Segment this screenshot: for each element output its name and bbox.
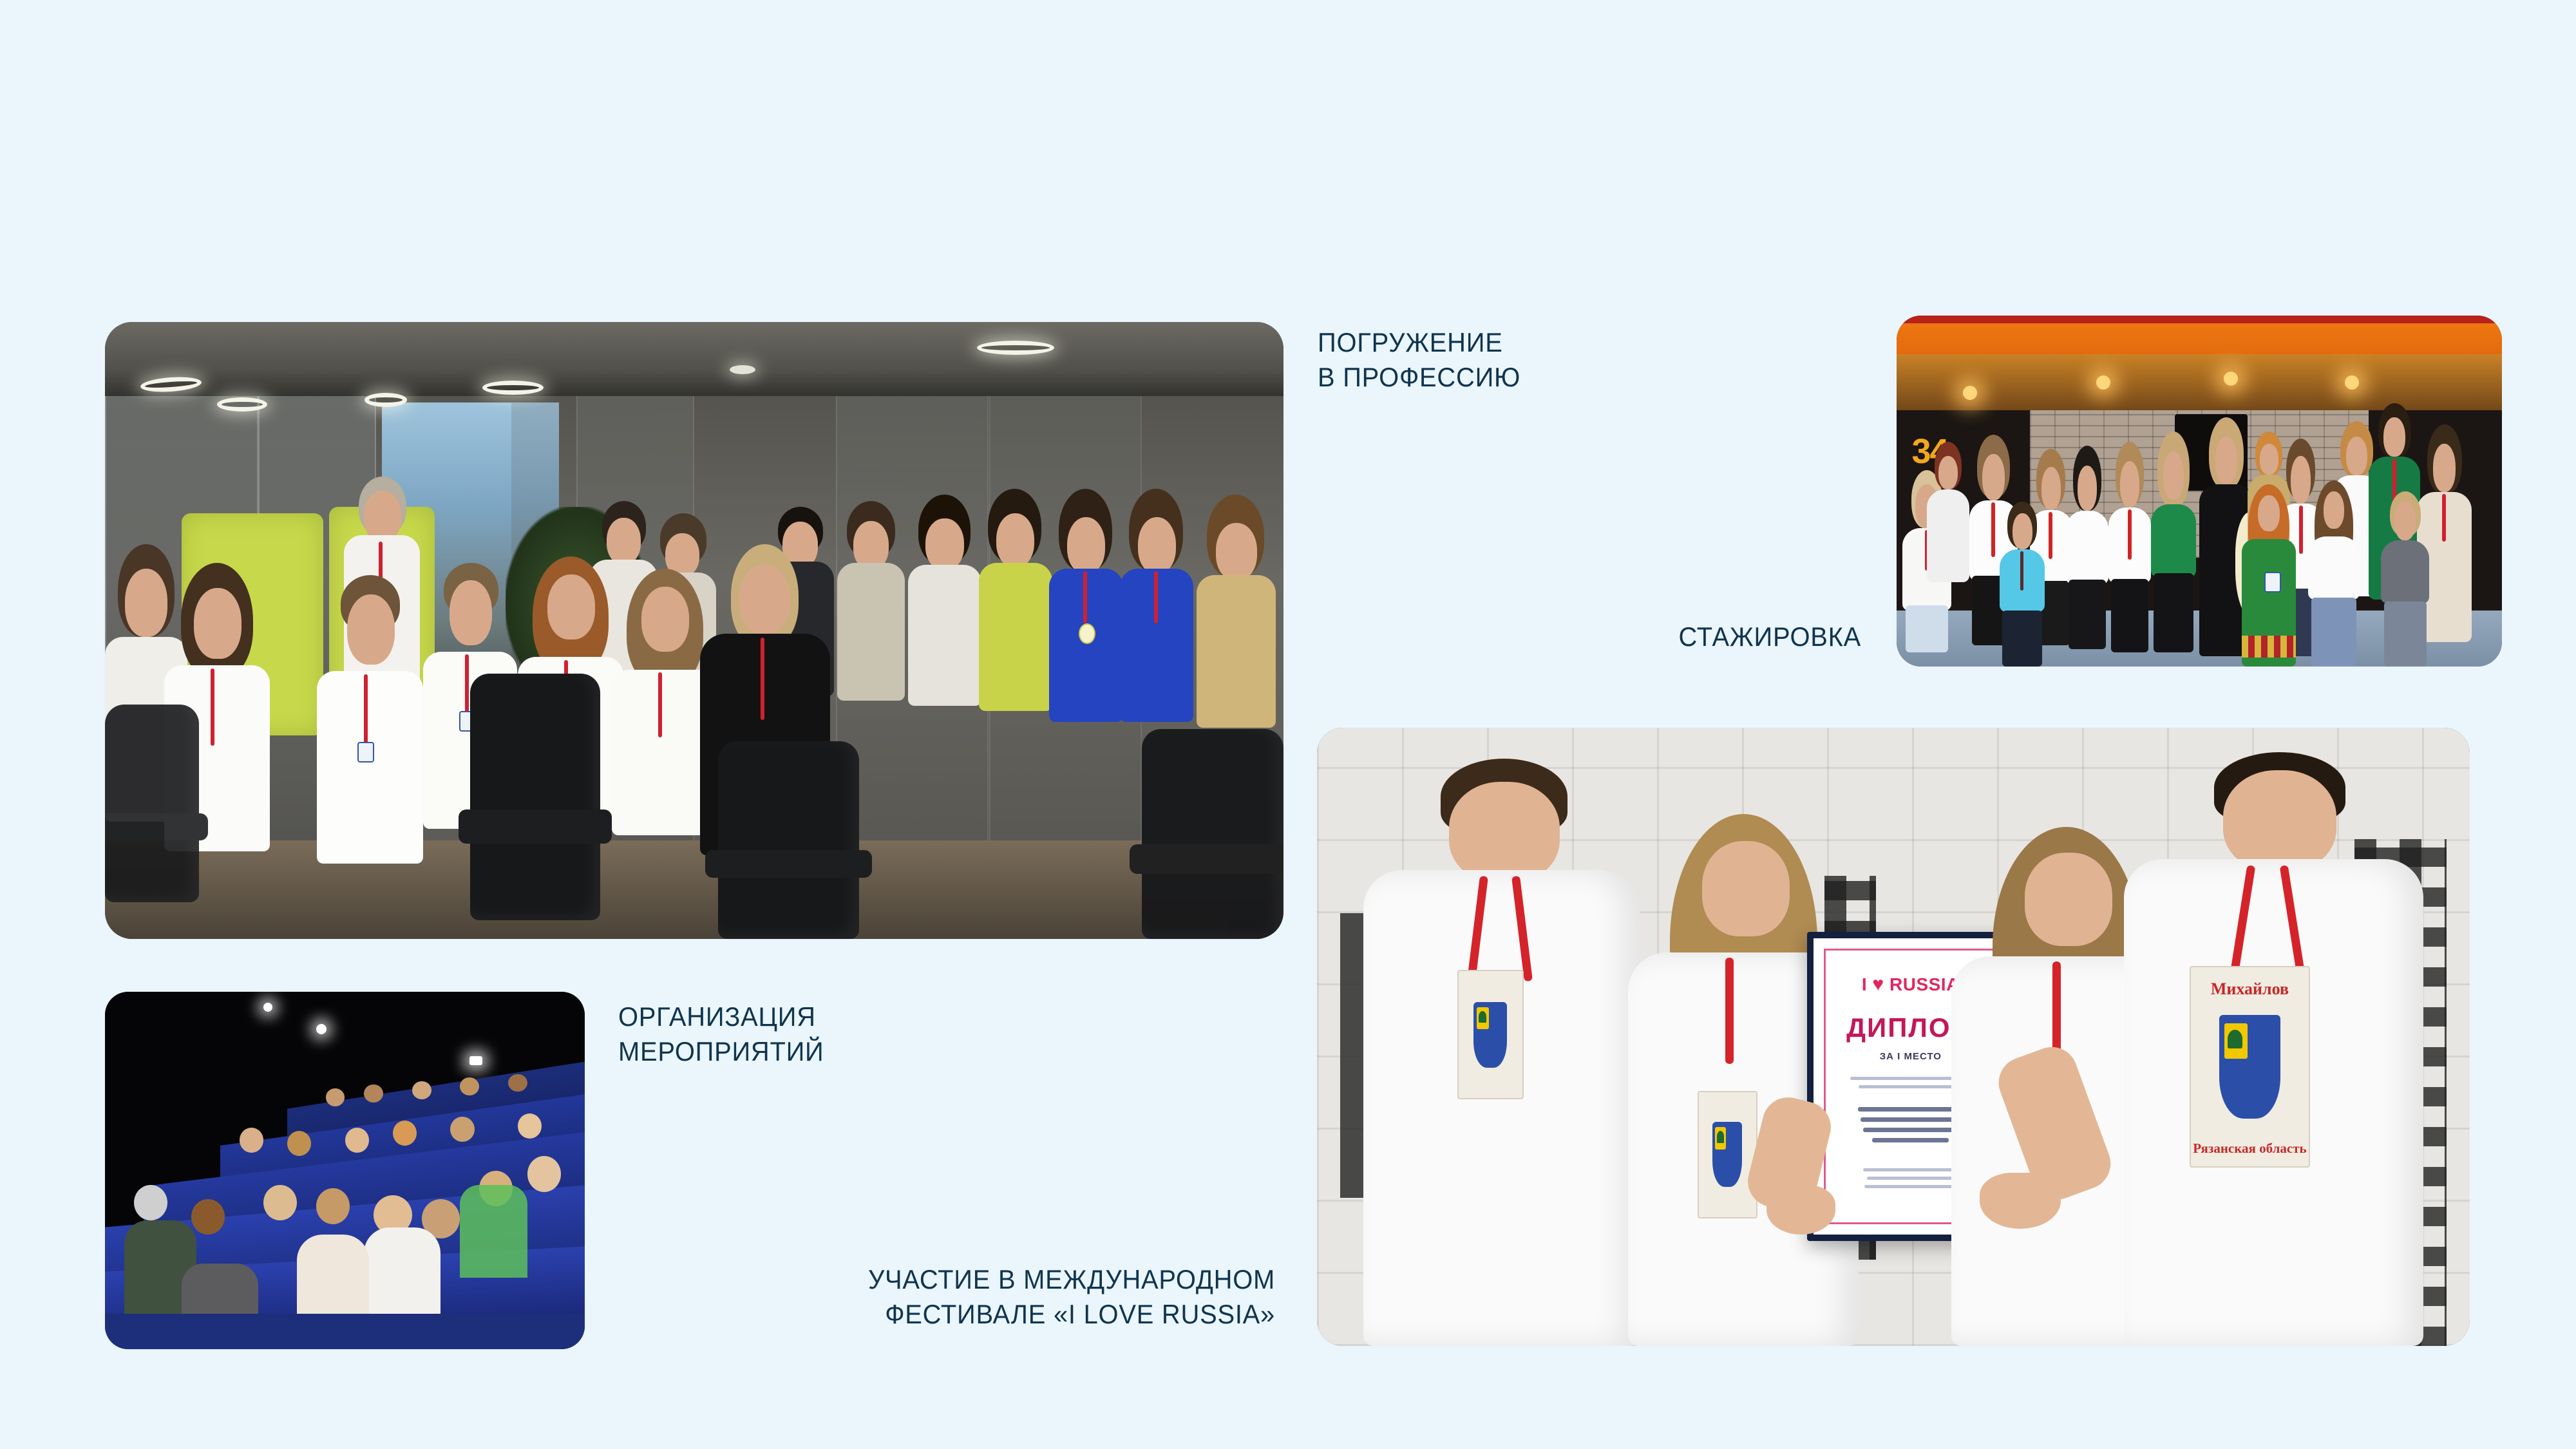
tshirt-emblem	[1457, 970, 1524, 1099]
spotlight	[2224, 372, 2238, 386]
person	[1195, 495, 1278, 753]
caption-immersion: ПОГРУЖЕНИЕ В ПРОФЕССИЮ	[1318, 325, 1520, 395]
hall-light	[469, 1056, 482, 1065]
audience-head	[518, 1113, 542, 1139]
office-chair	[470, 674, 600, 920]
office-chair	[1142, 729, 1283, 939]
audience-body	[460, 1185, 527, 1278]
audience-head	[134, 1185, 167, 1221]
person	[906, 495, 983, 729]
audience-head	[263, 1185, 297, 1221]
meeting-room-scene	[105, 322, 1283, 939]
person	[2308, 480, 2360, 667]
caption-events: ОРГАНИЗАЦИЯ МЕРОПРИЯТИЙ	[618, 999, 824, 1069]
person	[2066, 446, 2108, 649]
photo-immersion-meeting	[105, 322, 1283, 939]
person	[977, 489, 1054, 735]
caption-internship: СТАЖИРОВКА	[1604, 620, 1861, 654]
tshirt-emblem	[1698, 1091, 1757, 1218]
spotlight	[2096, 375, 2110, 390]
audience-head	[450, 1117, 474, 1142]
photo-internship-festival-group: 34	[1897, 316, 2502, 667]
audience-head	[364, 1084, 383, 1103]
person-left	[1363, 759, 1640, 1346]
person	[1048, 489, 1124, 748]
person	[836, 501, 907, 723]
audience-head	[527, 1156, 561, 1192]
hall-light	[316, 1024, 327, 1034]
audience-head	[393, 1121, 417, 1146]
photo-events-auditorium	[105, 992, 585, 1349]
auditorium-scene	[105, 992, 585, 1349]
festival-venue-scene: 34	[1897, 316, 2502, 667]
person	[2381, 491, 2429, 667]
audience-head	[316, 1188, 350, 1224]
ceiling	[105, 322, 1283, 402]
ceiling-light-ring	[365, 393, 407, 407]
ceiling-light-ring	[730, 365, 755, 374]
audience-head	[345, 1128, 369, 1153]
photo-festival-award: I ♥ RUSSIA ДИПЛОМ ЗА I МЕСТО	[1317, 728, 2470, 1346]
hand	[1980, 1173, 2060, 1228]
hall-light	[263, 1003, 272, 1012]
person-right: Михайлов Рязанская область	[2124, 752, 2423, 1346]
red-trim	[1897, 316, 2502, 323]
audience-head	[412, 1081, 431, 1099]
ceiling-light-ring	[977, 341, 1054, 355]
person	[1927, 442, 1969, 582]
ceiling-light-ring	[482, 381, 544, 395]
tshirt-city-label: Михайлов	[2191, 980, 2308, 999]
wall-graphic	[1340, 913, 1365, 1198]
tshirt-emblem-mikhaylov: Михайлов Рязанская область	[2190, 966, 2309, 1168]
ceiling-light-ring	[217, 397, 267, 412]
floor	[105, 1314, 585, 1350]
person	[1119, 489, 1195, 748]
audience-head	[460, 1077, 479, 1095]
person	[2151, 431, 2197, 652]
person	[2108, 442, 2151, 652]
office-chair	[718, 741, 860, 939]
heart-icon: ♥	[1872, 974, 1884, 995]
person	[2000, 502, 2045, 667]
person	[2242, 484, 2297, 667]
tshirt-region-label: Рязанская область	[2191, 1141, 2308, 1157]
caption-festival: УЧАСТИЕ В МЕЖДУНАРОДНОМ ФЕСТИВАЛЕ «I LOV…	[768, 1262, 1276, 1332]
audience-head	[326, 1088, 345, 1106]
person	[317, 575, 423, 896]
audience-head	[240, 1128, 263, 1153]
hand	[1766, 1185, 1835, 1235]
office-chair	[105, 705, 199, 902]
spotlight	[2345, 375, 2359, 390]
award-scene: I ♥ RUSSIA ДИПЛОМ ЗА I МЕСТО	[1317, 728, 2470, 1346]
audience-head	[508, 1074, 527, 1092]
